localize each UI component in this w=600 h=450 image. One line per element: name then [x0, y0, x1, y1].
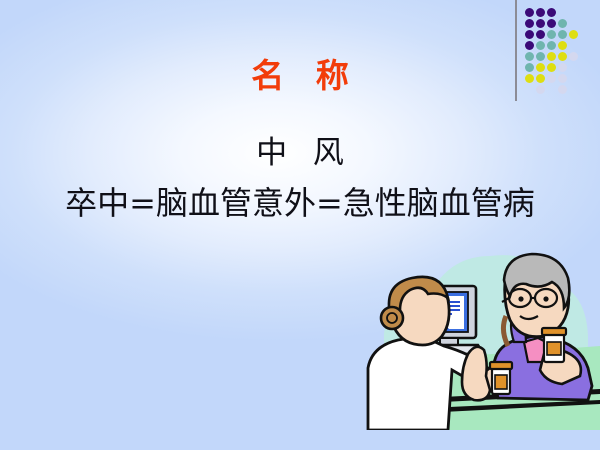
- dot-teal: [536, 41, 545, 50]
- dot-teal: [558, 19, 567, 28]
- dot-purple: [525, 8, 534, 17]
- pharmacist-patient-illustration: R x: [348, 250, 600, 430]
- dot-purple: [525, 19, 534, 28]
- dot-teal: [547, 30, 556, 39]
- dot-purple: [536, 19, 545, 28]
- pill-bottle-held: [542, 328, 566, 362]
- dot-purple: [536, 30, 545, 39]
- dot-purple: [547, 19, 556, 28]
- dot-row: [525, 30, 580, 41]
- dot-row: [525, 41, 580, 52]
- dot-row: [525, 19, 580, 30]
- pharmacist-pointing-hand: [462, 347, 490, 400]
- dot-yellow: [569, 30, 578, 39]
- dot-purple: [525, 30, 534, 39]
- slide-subtitle-line-2: 卒中=脑血管意外=急性脑血管病: [0, 182, 600, 224]
- slide-canvas: 名 称 中 风 卒中=脑血管意外=急性脑血管病: [0, 0, 600, 450]
- pill-bottle-on-counter: [490, 362, 512, 394]
- dot-teal: [558, 30, 567, 39]
- dot-row: [525, 8, 580, 19]
- pharmacist-hair-bun: [381, 307, 403, 329]
- dot-purple: [547, 8, 556, 17]
- dot-yellow: [558, 41, 567, 50]
- dot-teal: [547, 41, 556, 50]
- slide-subtitle-line-1: 中 风: [0, 133, 600, 173]
- dot-purple: [536, 8, 545, 17]
- dot-purple: [525, 41, 534, 50]
- slide-title: 名 称: [0, 55, 600, 97]
